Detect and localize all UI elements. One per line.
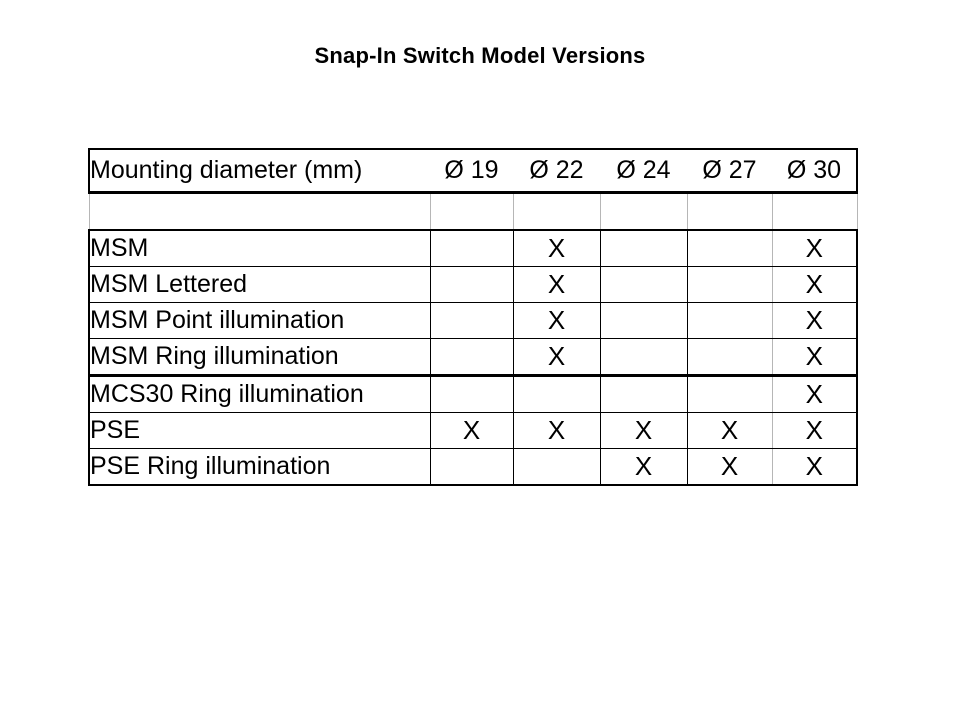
table-row: MSM Ring illumination X X [89,339,857,376]
row-label: MSM Lettered [89,267,430,303]
cell-d22 [513,449,600,486]
mark-value: X [806,233,823,263]
cell-d27 [687,339,772,376]
spacer-cell-d27 [687,193,772,231]
cell-d24 [600,376,687,413]
cell-d19 [430,230,513,267]
cell-d27 [687,376,772,413]
cell-d24: X [600,413,687,449]
mark-value: X [806,379,823,409]
table-row: MSM X X [89,230,857,267]
cell-d24 [600,339,687,376]
row-label: MSM Ring illumination [89,339,430,376]
row-label: MCS30 Ring illumination [89,376,430,413]
cell-d22: X [513,413,600,449]
mark-value: X [806,269,823,299]
table-row: MCS30 Ring illumination X [89,376,857,413]
spacer-row [89,193,857,231]
cell-d30: X [772,339,857,376]
mark-value: X [548,269,565,299]
mark-value: X [548,305,565,335]
row-label: PSE Ring illumination [89,449,430,486]
cell-d27 [687,303,772,339]
cell-d27: X [687,449,772,486]
cell-d19 [430,339,513,376]
cell-d22 [513,376,600,413]
column-header-d24: Ø 24 [600,149,687,193]
cell-d22: X [513,339,600,376]
cell-d24 [600,303,687,339]
cell-d19 [430,267,513,303]
mark-value: X [635,415,652,445]
cell-d30: X [772,230,857,267]
cell-d30: X [772,303,857,339]
column-header-mounting-diameter: Mounting diameter (mm) [89,149,430,193]
cell-d19 [430,376,513,413]
mark-value: X [463,415,480,445]
mark-value: X [806,415,823,445]
cell-d27 [687,267,772,303]
mark-value: X [548,341,565,371]
column-header-d30: Ø 30 [772,149,857,193]
table-row: MSM Point illumination X X [89,303,857,339]
row-label: MSM Point illumination [89,303,430,339]
mark-value: X [548,233,565,263]
cell-d30: X [772,267,857,303]
mark-value: X [721,415,738,445]
table-row: MSM Lettered X X [89,267,857,303]
cell-d22: X [513,303,600,339]
header-row: Mounting diameter (mm) Ø 19 Ø 22 Ø 24 Ø … [89,149,857,193]
cell-d19: X [430,413,513,449]
cell-d30: X [772,376,857,413]
cell-d22: X [513,230,600,267]
cell-d27 [687,230,772,267]
table-body: MSM X X MSM Lettered X X MSM Point illum… [89,193,857,486]
cell-d24: X [600,449,687,486]
cell-d24 [600,230,687,267]
table-header: Mounting diameter (mm) Ø 19 Ø 22 Ø 24 Ø … [89,149,857,193]
mark-value: X [721,451,738,481]
page-title: Snap-In Switch Model Versions [0,41,960,71]
row-label: MSM [89,230,430,267]
column-header-d19: Ø 19 [430,149,513,193]
table-row: PSE X X X X X [89,413,857,449]
spacer-cell-d30 [772,193,857,231]
spacer-cell-d22 [513,193,600,231]
table-row: PSE Ring illumination X X X [89,449,857,486]
mark-value: X [635,451,652,481]
cell-d22: X [513,267,600,303]
cell-d30: X [772,413,857,449]
cell-d19 [430,449,513,486]
mark-value: X [806,305,823,335]
mark-value: X [806,341,823,371]
slide-canvas: Snap-In Switch Model Versions Mounting d… [0,0,960,720]
column-header-d22: Ø 22 [513,149,600,193]
row-label: PSE [89,413,430,449]
cell-d30: X [772,449,857,486]
column-header-d27: Ø 27 [687,149,772,193]
mark-value: X [806,451,823,481]
spacer-cell-label [89,193,430,231]
cell-d19 [430,303,513,339]
cell-d24 [600,267,687,303]
spacer-cell-d19 [430,193,513,231]
model-versions-table: Mounting diameter (mm) Ø 19 Ø 22 Ø 24 Ø … [88,148,858,486]
cell-d27: X [687,413,772,449]
spacer-cell-d24 [600,193,687,231]
mark-value: X [548,415,565,445]
